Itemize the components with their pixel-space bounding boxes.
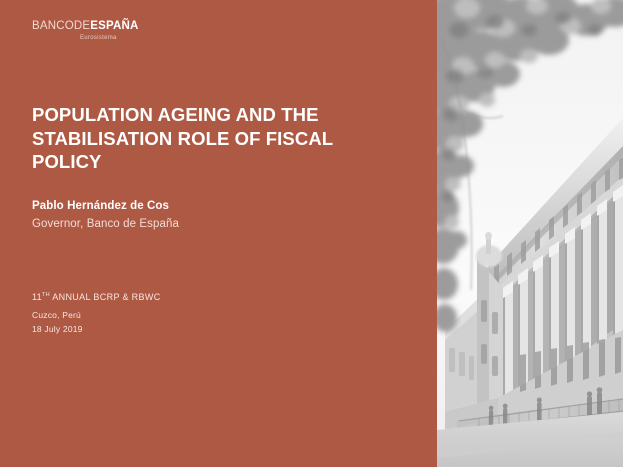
slide-title: POPULATION AGEING AND THE STABILISATION … [32, 103, 362, 174]
event-location: Cuzco, Perú [32, 309, 362, 321]
left-color-panel [0, 0, 437, 467]
author-role: Governor, Banco de España [32, 216, 362, 233]
event-name-prefix: 11 [32, 292, 42, 302]
event-name-rest: ANNUAL BCRP & RBWC [50, 292, 161, 302]
event-name: 11TH ANNUAL BCRP & RBWC [32, 289, 362, 303]
author-block: Pablo Hernández de Cos Governor, Banco d… [32, 198, 362, 233]
logo-word-espana: ESPAÑA [90, 20, 138, 32]
logo-wordmark: BANCODEESPAÑA [32, 20, 212, 33]
author-name: Pablo Hernández de Cos [32, 198, 362, 214]
event-date: 18 July 2019 [32, 323, 362, 335]
title-line-1: POPULATION AGEING AND THE [32, 103, 362, 127]
banco-de-espana-logo: BANCODEESPAÑA Eurosistema [32, 20, 212, 42]
title-line-2: STABILISATION ROLE OF FISCAL [32, 127, 362, 151]
event-block: 11TH ANNUAL BCRP & RBWC Cuzco, Perú 18 J… [32, 289, 362, 335]
building-photo-graphic [437, 0, 623, 467]
title-slide: BANCODEESPAÑA Eurosistema POPULATION AGE… [0, 0, 623, 467]
event-name-ordinal-suffix: TH [42, 292, 50, 298]
logo-word-banco-de: BANCODE [32, 20, 90, 32]
logo-subtitle-eurosistema: Eurosistema [32, 34, 212, 42]
building-photograph [437, 0, 623, 467]
title-line-3: POLICY [32, 150, 362, 174]
